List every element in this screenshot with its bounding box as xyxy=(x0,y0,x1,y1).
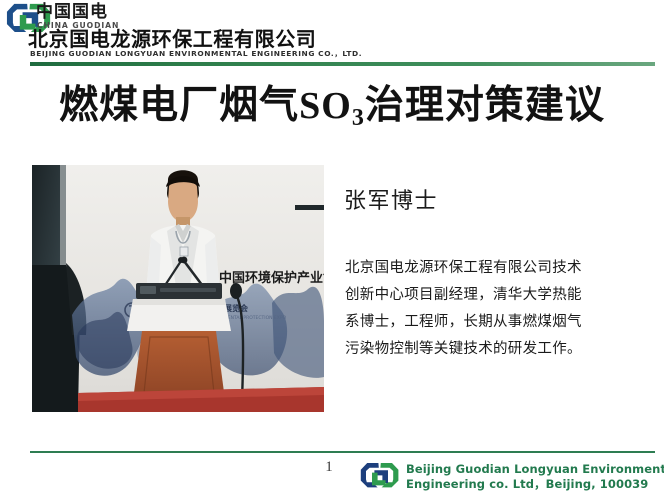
footer-divider xyxy=(30,451,655,453)
title-part-2: 治理对策建议 xyxy=(365,83,605,128)
header-divider xyxy=(30,62,655,66)
title-formula-subscript: 3 xyxy=(352,105,365,131)
page-number: 1 xyxy=(318,459,340,476)
footer-line-1: Beijing Guodian Longyuan Environmental xyxy=(406,462,664,477)
company-name-cn: 北京国电龙源环保工程有限公司 xyxy=(28,28,316,50)
title-part-1: 燃煤电厂烟气 xyxy=(59,83,299,128)
footer-line-2: Engineering co. Ltd，Beijing, 100039 xyxy=(406,477,664,492)
footer-company-address: Beijing Guodian Longyuan Environmental E… xyxy=(406,462,664,492)
speaker-photo: 中国环境保护产业协会 第十五届中国国际环保展览会 CHINA INTERNATI… xyxy=(32,165,324,412)
speaker-name: 张军博士 xyxy=(344,183,438,215)
company-name-en: BEIJING GUODIAN LONGYUAN ENVIRONMENTAL E… xyxy=(30,49,362,59)
bio-line-3: 系博士，工程师，长期从事燃煤烟气 xyxy=(345,309,645,336)
bio-line-4: 污染物控制等关键技术的研发工作。 xyxy=(345,336,645,363)
title-formula-base: SO xyxy=(299,85,352,127)
bio-line-1: 北京国电龙源环保工程有限公司技术 xyxy=(345,255,645,282)
title-formula: SO3 xyxy=(299,85,365,127)
bio-line-2: 创新中心项目副经理，清华大学热能 xyxy=(345,282,645,309)
slide-header: 中国国电 CHINA GUODIAN 北京国电龙源环保工程有限公司 BEIJIN… xyxy=(0,0,664,66)
presentation-slide: 中国国电 CHINA GUODIAN 北京国电龙源环保工程有限公司 BEIJIN… xyxy=(0,0,664,502)
brand-name-cn: 中国国电 xyxy=(36,3,108,21)
slide-title: 燃煤电厂烟气SO3治理对策建议 xyxy=(0,82,664,135)
footer-guodian-swirl-logo-icon xyxy=(360,461,400,493)
speaker-bio: 北京国电龙源环保工程有限公司技术 创新中心项目副经理，清华大学热能 系博士，工程… xyxy=(345,255,645,363)
